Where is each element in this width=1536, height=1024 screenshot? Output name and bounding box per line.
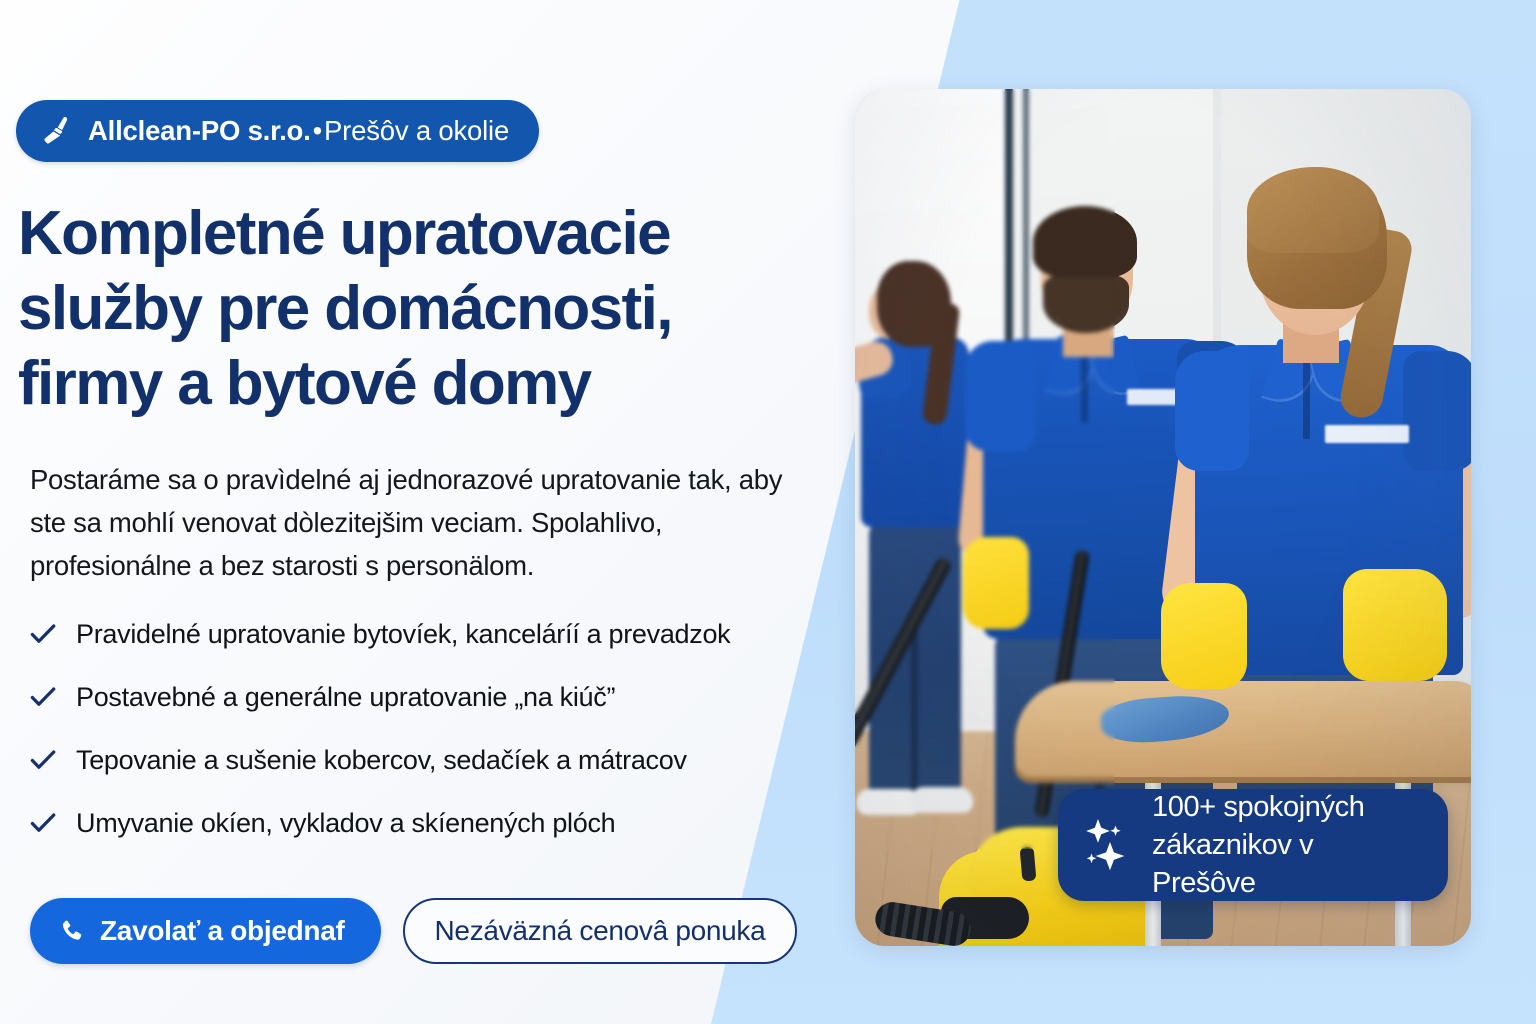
check-icon: [28, 680, 58, 714]
brand-badge-text: Allclean-PO s.r.o.•Prešôv a okolie: [88, 115, 509, 147]
photo-person-woman-sleeve-left: [1175, 351, 1249, 471]
cta-row: Zavolať a objednaf Nezáväzná cenovâ ponu…: [30, 898, 797, 964]
call-and-order-button[interactable]: Zavolať a objednaf: [30, 898, 381, 964]
sparkles-icon: [1080, 816, 1134, 874]
status-badge-line2: zákaznikov v Prešôve: [1152, 826, 1424, 902]
photo-person-woman-logo: [1325, 425, 1409, 443]
status-badge-line1: 100+ spokojných: [1152, 788, 1424, 826]
photo-person-woman-glove-right: [1343, 569, 1447, 681]
photo-person-woman-placket: [1303, 357, 1310, 439]
check-icon: [28, 806, 58, 840]
photo-vacuum-handle: [1020, 846, 1037, 881]
check-icon: [28, 617, 58, 651]
photo-person-man-beard: [1043, 275, 1129, 333]
photo-person-woman-glove-left: [1161, 583, 1247, 689]
promo-banner: Allclean-PO s.r.o.•Prešôv a okolie Kompl…: [0, 0, 1536, 1024]
list-item-label: Tepovanie a sušenie kobercov, sedačíek a…: [76, 740, 687, 781]
lede-paragraph: Postaráme sa o pravìdelné aj jednorazové…: [30, 458, 786, 587]
photo-person-woman-hair-front: [1247, 167, 1379, 253]
photo-table-top: [1015, 681, 1471, 777]
list-item-label: Postavebné a generálne upratovanie „na k…: [76, 677, 615, 718]
photo-person-background-shoe: [911, 787, 973, 813]
brand-name: Allclean-PO s.r.o.: [88, 115, 311, 146]
feature-list: Pravidelné upratovanie bytovíek, kancelá…: [28, 614, 798, 866]
check-icon: [28, 743, 58, 777]
photo-person-man-sleeve-left: [965, 341, 1035, 451]
list-item-label: Umyvanie okíen, vykladov a skíenených pl…: [76, 803, 615, 844]
free-quote-label: Nezáväzná cenovâ ponuka: [435, 915, 766, 947]
list-item: Pravidelné upratovanie bytovíek, kancelá…: [28, 614, 798, 655]
list-item: Tepovanie a sušenie kobercov, sedačíek a…: [28, 740, 798, 781]
brand-location: Prešôv a okolie: [324, 115, 509, 146]
brand-separator: •: [311, 115, 324, 146]
broom-icon: [40, 114, 74, 148]
photo-person-man-placket: [1081, 351, 1088, 423]
status-badge-text: 100+ spokojných zákaznikov v Prešôve: [1152, 788, 1424, 902]
photo-person-woman-sleeve-right: [1403, 351, 1471, 471]
brand-badge[interactable]: Allclean-PO s.r.o.•Prešôv a okolie: [16, 100, 539, 162]
photo-person-man-glove-left: [963, 537, 1029, 629]
list-item: Postavebné a generálne upratovanie „na k…: [28, 677, 798, 718]
list-item: Umyvanie okíen, vykladov a skíenených pl…: [28, 803, 798, 844]
photo-person-man-hair: [1033, 206, 1137, 278]
status-badge: 100+ spokojných zákaznikov v Prešôve: [1058, 789, 1448, 901]
phone-icon: [58, 917, 86, 945]
left-content-column: Allclean-PO s.r.o.•Prešôv a okolie Kompl…: [16, 0, 796, 1024]
call-and-order-label: Zavolať a objednaf: [100, 915, 345, 947]
list-item-label: Pravidelné upratovanie bytovíek, kancelá…: [76, 614, 730, 655]
page-title: Kompletné upratovacie služby pre domácno…: [18, 196, 788, 421]
free-quote-button[interactable]: Nezáväzná cenovâ ponuka: [403, 898, 798, 964]
